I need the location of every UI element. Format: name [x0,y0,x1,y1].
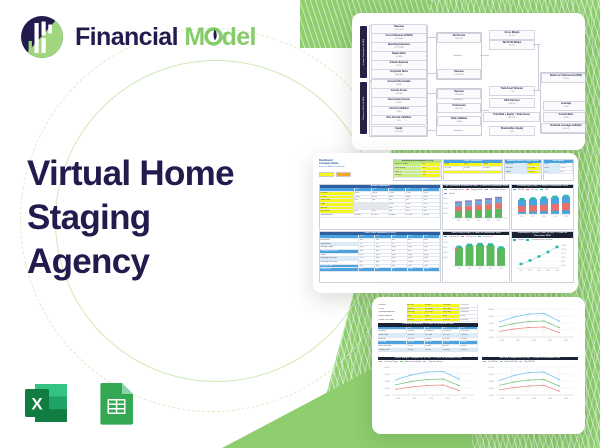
svg-text:2020: 2020 [555,270,559,272]
svg-text:2019: 2019 [546,270,550,272]
node-value: (217) [397,65,402,67]
svg-text:60,000: 60,000 [489,323,494,325]
svg-text:70,000: 70,000 [443,208,448,210]
dupont-node: Shareholders Equity 462 [489,126,535,136]
node-value: (235) [397,111,402,113]
svg-text:105,000: 105,000 [443,203,449,205]
svg-text:20,000: 20,000 [561,265,566,267]
svg-text:2016: 2016 [396,398,400,400]
svg-text:2019: 2019 [548,398,552,400]
svg-text:80,000: 80,000 [385,374,390,376]
svg-text:2019: 2019 [446,398,450,400]
svg-text:35,000: 35,000 [443,213,448,215]
svg-text:100,000: 100,000 [488,309,494,311]
ebitda-chart: EBITDA Comparison ($ 000) - 5 Years to D… [482,357,578,419]
dupont-node: ROA Turnover 144.2% [489,98,535,108]
revenue-trend-chart: 100,00080,000 60,00040,00020,000 2016201… [482,304,578,352]
financial-reports-card[interactable]: Revenue882,140952,6111,028,8201,110,126 … [372,297,585,434]
poster-canvas: Financial Mdel Virtual Home Staging Agen… [0,0,600,448]
svg-text:80,000: 80,000 [489,374,494,376]
legend-swatch [483,361,486,362]
cash-flow-chart: Cash Flow ($ 000) - 5 Years to December … [442,231,510,283]
reports-body: Revenue882,140952,6111,028,8201,110,126 … [372,297,585,434]
svg-text:2018: 2018 [478,268,482,270]
legend-label: Operating CF [449,236,459,238]
node-value: 2.72 [510,91,514,93]
dupont-node: Gross Margin 61.0% [489,30,535,40]
svg-text:2017: 2017 [413,398,417,400]
node-value: 61.0% [509,35,515,37]
kpi-ratios: Key Ratios ROE95.1% ROA73.9% CR18.4 [543,159,574,181]
legend-label: Consulting Services [449,189,464,191]
financial-dashboard-card[interactable]: Dashboard Company Name Financial Model D… [313,153,578,293]
node-value: (1,385) [396,56,403,58]
legend-label: Upsells [449,193,455,195]
legend-label: Cumulative Free Cash Flow [531,239,552,241]
svg-text:2017: 2017 [467,220,471,222]
svg-text:2018: 2018 [429,398,433,400]
excel-icon[interactable]: X [22,379,70,427]
legend-label: Payback [518,239,524,241]
node-value: (217,548) [395,47,404,49]
node-value: 1,212,620 [394,29,403,31]
profitability-chart: Profitability ($ 000) - 5 Years to Decem… [511,184,574,230]
svg-text:2019: 2019 [553,216,557,218]
page-title: Virtual Home Staging Agency [27,152,277,284]
dupont-group-col4 [540,72,585,134]
svg-text:40,000: 40,000 [489,388,494,390]
svg-text:2019: 2019 [487,220,491,222]
cash-flow-table: Cash Flow Statement ($ 000) 201620172018… [319,231,441,283]
dupont-group-col2a [436,32,482,80]
svg-text:2016: 2016 [519,270,523,272]
svg-text:2020: 2020 [564,216,568,218]
google-sheets-icon[interactable] [92,379,140,427]
dupont-spine-income: Income Statement ($ 000) [360,26,367,78]
brand-word-primary: Financial [75,23,178,51]
node-value: 462 [510,131,513,133]
svg-text:2016: 2016 [520,216,524,218]
legend-label: Investing CF [483,236,492,238]
legend-swatch [423,361,426,362]
revenue-trend-svg: 100,00080,000 60,00040,00020,000 2016201… [482,304,578,352]
svg-text:2017: 2017 [516,340,520,342]
legend-label: Staging Rentals [471,189,483,191]
brand-word-secondary: Mdel [184,23,256,51]
dupont-spine-balance: Balance Sheet ($ 000) [360,82,367,134]
svg-text:120,000: 120,000 [443,242,449,244]
svg-text:100,000: 100,000 [384,367,390,369]
svg-text:40,000: 40,000 [561,261,566,263]
headline-line-2: Staging [27,196,277,240]
legend-swatch [379,361,382,362]
svg-text:140,000: 140,000 [443,198,449,200]
ebitda-svg: 100,00080,000 60,00040,00020,000 2016201… [482,363,578,409]
node-value: (12) [397,120,401,122]
svg-text:2018: 2018 [532,340,536,342]
legend-swatch [526,189,529,190]
brand-logo[interactable]: Financial Mdel [20,15,256,59]
legend-swatch [466,189,469,190]
svg-text:60,000: 60,000 [561,257,566,259]
svg-text:2017: 2017 [528,270,532,272]
legend-swatch [444,193,447,194]
legend-label: Consultation Services [490,189,506,191]
node-value: (63,528) [395,74,403,76]
profitability-svg: 20162017201820192020 [512,191,573,219]
dashboard-body: Dashboard Company Name Financial Model D… [313,153,578,293]
svg-text:60,000: 60,000 [443,252,448,254]
legend-swatch [519,361,522,362]
legend-label: Closing Cash [466,236,476,238]
svg-text:20,000: 20,000 [489,395,494,397]
scenario-chip-2[interactable] [336,172,351,177]
legend-swatch [478,236,481,237]
legend-swatch [513,189,516,190]
legend-swatch [526,239,529,240]
svg-text:30,000: 30,000 [443,257,448,259]
dupont-analysis-card[interactable]: Income Statement ($ 000) Balance Sheet (… [352,13,585,150]
legend-label: Low EBITDA [488,361,498,363]
node-value: 4,181 [396,102,401,104]
svg-text:2020: 2020 [462,398,466,400]
svg-text:40,000: 40,000 [385,388,390,390]
dupont-node: Non-Current Liabilities (12) [371,115,427,125]
dupont-group-col2b [436,88,482,136]
dupont-node: Total Debt + Equity = Total Assets 582,5… [483,112,540,122]
svg-text:2019: 2019 [489,268,493,270]
svg-text:80,000: 80,000 [489,316,494,318]
chart-legend: Consulting Services Staging Rentals Cons… [443,188,509,195]
svg-text:40,000: 40,000 [489,330,494,332]
legend-swatch [400,361,403,362]
svg-text:100,000: 100,000 [561,249,567,251]
legend-swatch [461,236,464,237]
legend-label: EBIT [545,189,549,191]
svg-text:2018: 2018 [532,398,536,400]
scenario-chip-1[interactable] [319,172,334,177]
dupont-spine-income-label: Income Statement ($ 000) [363,39,365,65]
investment-payback-chart: Investment Payback Chart ($ 000) - 5 Yea… [511,231,574,283]
svg-text:90,000: 90,000 [443,247,448,249]
legend-label: High Gross Margin [428,361,442,363]
dupont-tree: Income Statement ($ 000) Balance Sheet (… [352,13,585,150]
svg-text:2019: 2019 [548,340,552,342]
svg-text:2020: 2020 [499,268,503,270]
svg-text:X: X [31,395,43,414]
legend-swatch [485,189,488,190]
svg-text:2018: 2018 [542,216,546,218]
dupont-node: Total Asset Turnover 2.72 [489,86,535,96]
file-format-icons: X [22,379,140,427]
node-value: 113,984 [395,93,402,95]
legend-label: Net Profit [531,189,538,191]
legend-swatch [444,189,447,190]
dashboard-subtitle: Financial Model Dashboard [319,166,389,169]
node-value: 8,684 [396,84,401,86]
financial-model-circle-logo [20,15,64,59]
svg-text:20,000: 20,000 [489,337,494,339]
svg-text:2016: 2016 [500,398,504,400]
legend-swatch [444,236,447,237]
cashflow-bar-svg: 120,00090,000 60,00030,000 [443,238,509,272]
svg-text:2020: 2020 [564,398,568,400]
svg-text:2017: 2017 [468,268,472,270]
leaf-o-glyph [205,26,222,45]
legend-swatch [513,239,516,240]
svg-text:2016: 2016 [457,268,461,270]
gross-margin-svg: 100,00080,000 60,00040,00020,000 2016201… [378,363,478,409]
dupont-spine-balance-label: Balance Sheet ($ 000) [363,97,365,120]
legend-label: Low Gross Margin [384,361,398,363]
node-value: (472,880) [395,38,404,40]
svg-text:60,000: 60,000 [489,381,494,383]
svg-text:2020: 2020 [564,340,568,342]
income-statement-table: Income Statement 20162017201820192020 Re… [319,184,441,230]
svg-text:20,000: 20,000 [385,395,390,397]
legend-label: High EBITDA [524,361,534,363]
revenue-breakdown-chart: Top 5 Revenue Streams ($ 000) - 5 Years … [442,184,510,230]
headline-line-3: Agency [27,240,277,284]
svg-text:2018: 2018 [537,270,541,272]
svg-text:2017: 2017 [531,216,535,218]
node-value: 144.2% [508,103,515,105]
svg-text:2020: 2020 [497,220,501,222]
svg-text:2018: 2018 [477,220,481,222]
kpi-balance: Balance Sheet & Debt Levels Total Debt3,… [504,159,542,181]
legend-label: Medium EBITDA [505,361,518,363]
dupont-node: Net Profit Margin 33.7% [489,40,535,50]
legend-label: Medium Gross Margin [405,361,422,363]
node-value: 253,232 [395,131,403,133]
payback-svg: 120,000100,00080,000 60,00040,00020,000 … [512,241,573,275]
svg-text:2016: 2016 [457,220,461,222]
svg-text:80,000: 80,000 [561,253,566,255]
legend-swatch [540,189,543,190]
headline-line-1: Virtual Home [27,152,277,196]
node-value: 33.7% [509,45,515,47]
financial-summary-table: Revenue882,140952,6111,028,8201,110,126 … [378,304,478,352]
kpi-cash: Cash Calculation OpenFCFClose 122,54098,… [443,159,503,181]
svg-text:2017: 2017 [516,398,520,400]
kpi-assumptions: Summary Assumptions ($ m) Revenue Growth… [393,159,442,181]
dupont-node: Equity 253,232 [371,126,427,136]
svg-text:100,000: 100,000 [488,367,494,369]
brand-wordmark: Financial Mdel [75,25,256,50]
legend-swatch [500,361,503,362]
svg-text:2016: 2016 [500,340,504,342]
stacked-bar-svg: 140,000105,000 70,00035,000 201620172018… [443,195,509,223]
svg-text:120,000: 120,000 [561,245,567,247]
gross-margin-chart: Gross Margin Comparison ($ 000) - 5 Year… [378,357,478,419]
dupont-node: Corporate Taxes (63,528) [371,69,427,79]
node-value: 582,576 [508,117,516,119]
svg-text:60,000: 60,000 [385,381,390,383]
legend-label: EBITDA [518,189,524,191]
